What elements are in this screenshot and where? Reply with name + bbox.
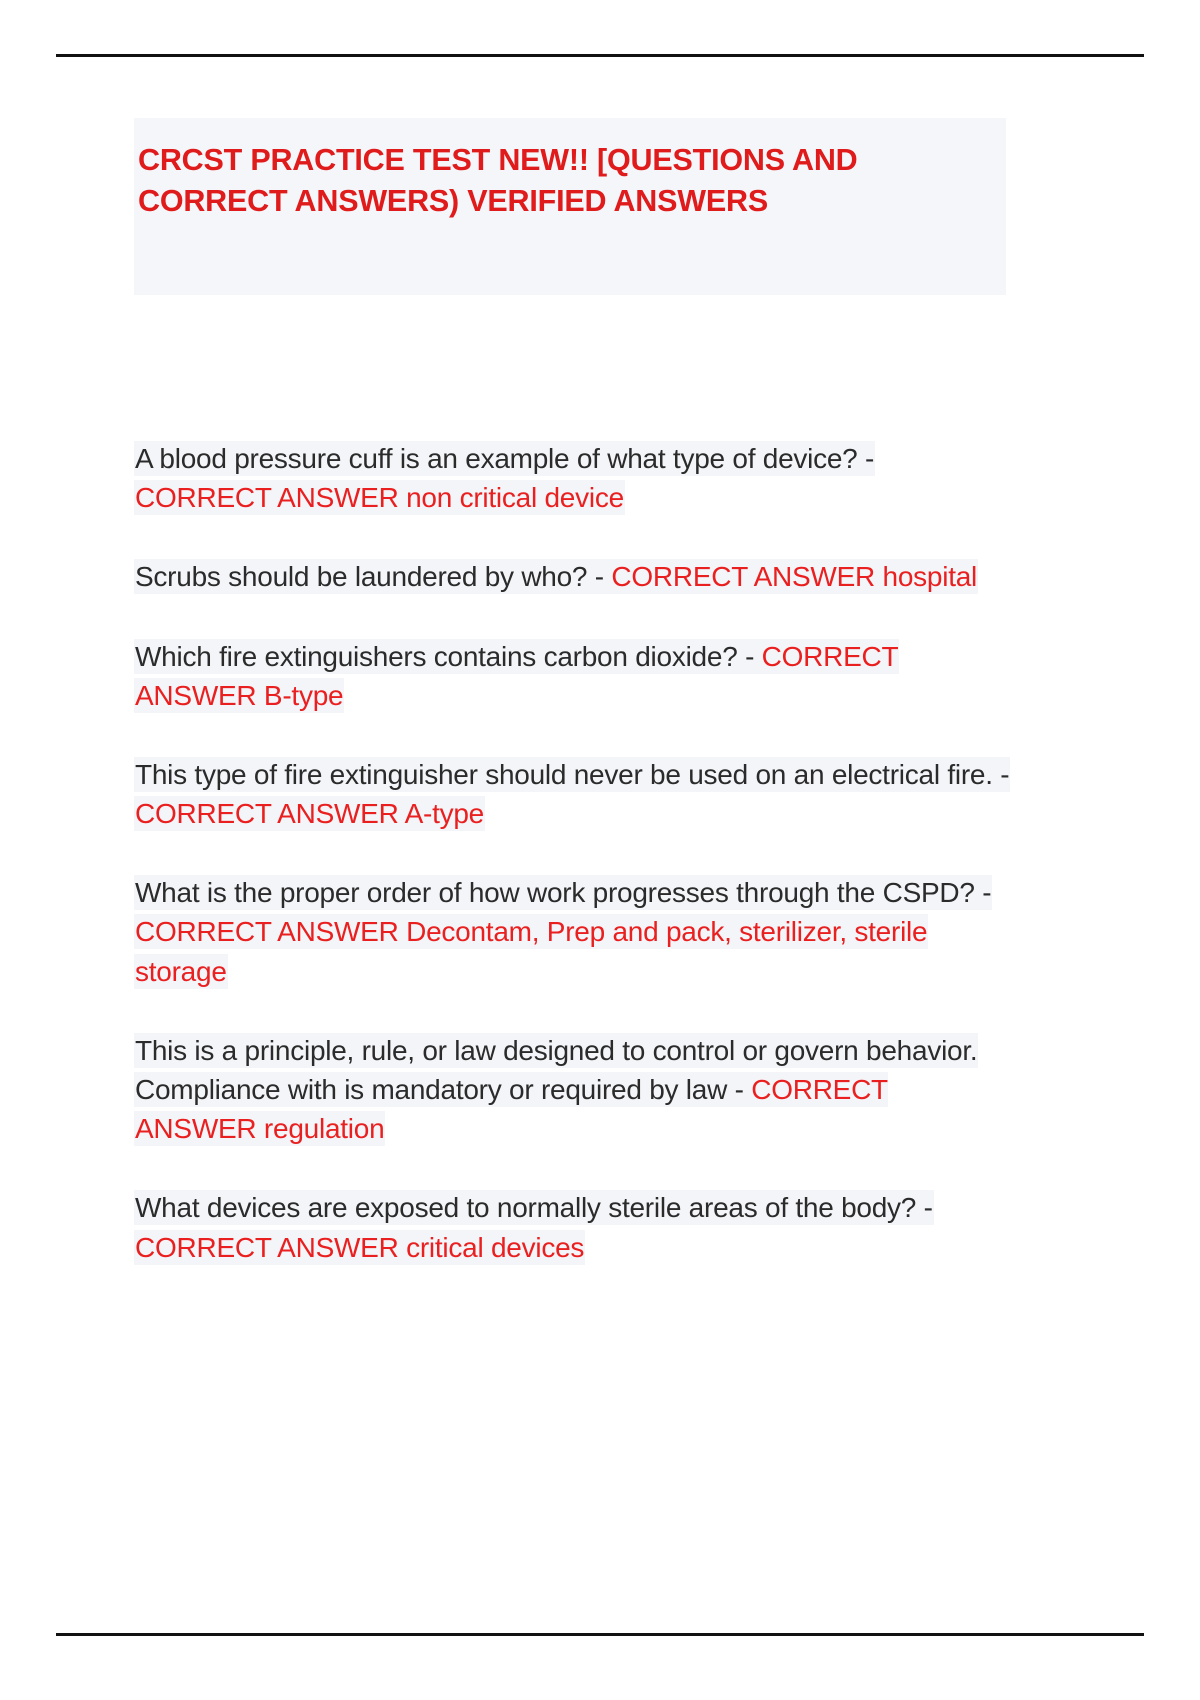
document-page: CRCST PRACTICE TEST NEW!! [QUESTIONS AND… bbox=[0, 0, 1200, 1700]
document-content: CRCST PRACTICE TEST NEW!! [QUESTIONS AND… bbox=[134, 118, 1014, 1267]
footer-rule bbox=[56, 1633, 1144, 1636]
qa-item: A blood pressure cuff is an example of w… bbox=[134, 439, 1014, 517]
question-answer-separator: - bbox=[735, 1074, 752, 1105]
question-text: A blood pressure cuff is an example of w… bbox=[135, 443, 865, 474]
qa-highlight: What devices are exposed to normally ste… bbox=[134, 1190, 934, 1264]
answer-label: CORRECT ANSWER bbox=[611, 561, 875, 592]
answer-label: CORRECT ANSWER bbox=[135, 482, 399, 513]
answer-text: non critical device bbox=[399, 482, 624, 513]
header-rule bbox=[56, 54, 1144, 57]
answer-text: hospital bbox=[875, 561, 977, 592]
qa-item: Scrubs should be laundered by who? - COR… bbox=[134, 557, 1014, 596]
question-answer-separator: - bbox=[865, 443, 874, 474]
question-answer-separator: - bbox=[745, 641, 762, 672]
qa-highlight: What is the proper order of how work pro… bbox=[134, 875, 992, 988]
answer-label: CORRECT ANSWER bbox=[135, 916, 399, 947]
question-answer-separator: - bbox=[595, 561, 612, 592]
answer-text: A-type bbox=[399, 798, 484, 829]
qa-item: What is the proper order of how work pro… bbox=[134, 873, 1014, 991]
qa-list: A blood pressure cuff is an example of w… bbox=[134, 439, 1014, 1267]
qa-highlight: Scrubs should be laundered by who? - COR… bbox=[134, 559, 978, 594]
answer-label: CORRECT ANSWER bbox=[135, 798, 399, 829]
answer-text: regulation bbox=[256, 1113, 384, 1144]
qa-item: This type of fire extinguisher should ne… bbox=[134, 755, 1014, 833]
qa-item: This is a principle, rule, or law design… bbox=[134, 1031, 1014, 1149]
question-text: What is the proper order of how work pro… bbox=[135, 877, 982, 908]
qa-highlight: Which fire extinguishers contains carbon… bbox=[134, 639, 899, 713]
question-answer-separator: - bbox=[982, 877, 991, 908]
question-answer-separator: - bbox=[924, 1192, 933, 1223]
qa-item: What devices are exposed to normally ste… bbox=[134, 1188, 1014, 1266]
question-text: Scrubs should be laundered by who? bbox=[135, 561, 595, 592]
question-answer-separator: - bbox=[1000, 759, 1009, 790]
qa-item: Which fire extinguishers contains carbon… bbox=[134, 637, 1014, 715]
page-title: CRCST PRACTICE TEST NEW!! [QUESTIONS AND… bbox=[134, 118, 1006, 295]
qa-highlight: This is a principle, rule, or law design… bbox=[134, 1033, 978, 1146]
question-text: Which fire extinguishers contains carbon… bbox=[135, 641, 745, 672]
answer-label: CORRECT ANSWER bbox=[135, 1232, 399, 1263]
question-text: This type of fire extinguisher should ne… bbox=[135, 759, 1000, 790]
answer-text: B-type bbox=[256, 680, 343, 711]
answer-text: critical devices bbox=[399, 1232, 585, 1263]
question-text: What devices are exposed to normally ste… bbox=[135, 1192, 924, 1223]
qa-highlight: A blood pressure cuff is an example of w… bbox=[134, 441, 875, 515]
qa-highlight: This type of fire extinguisher should ne… bbox=[134, 757, 1010, 831]
